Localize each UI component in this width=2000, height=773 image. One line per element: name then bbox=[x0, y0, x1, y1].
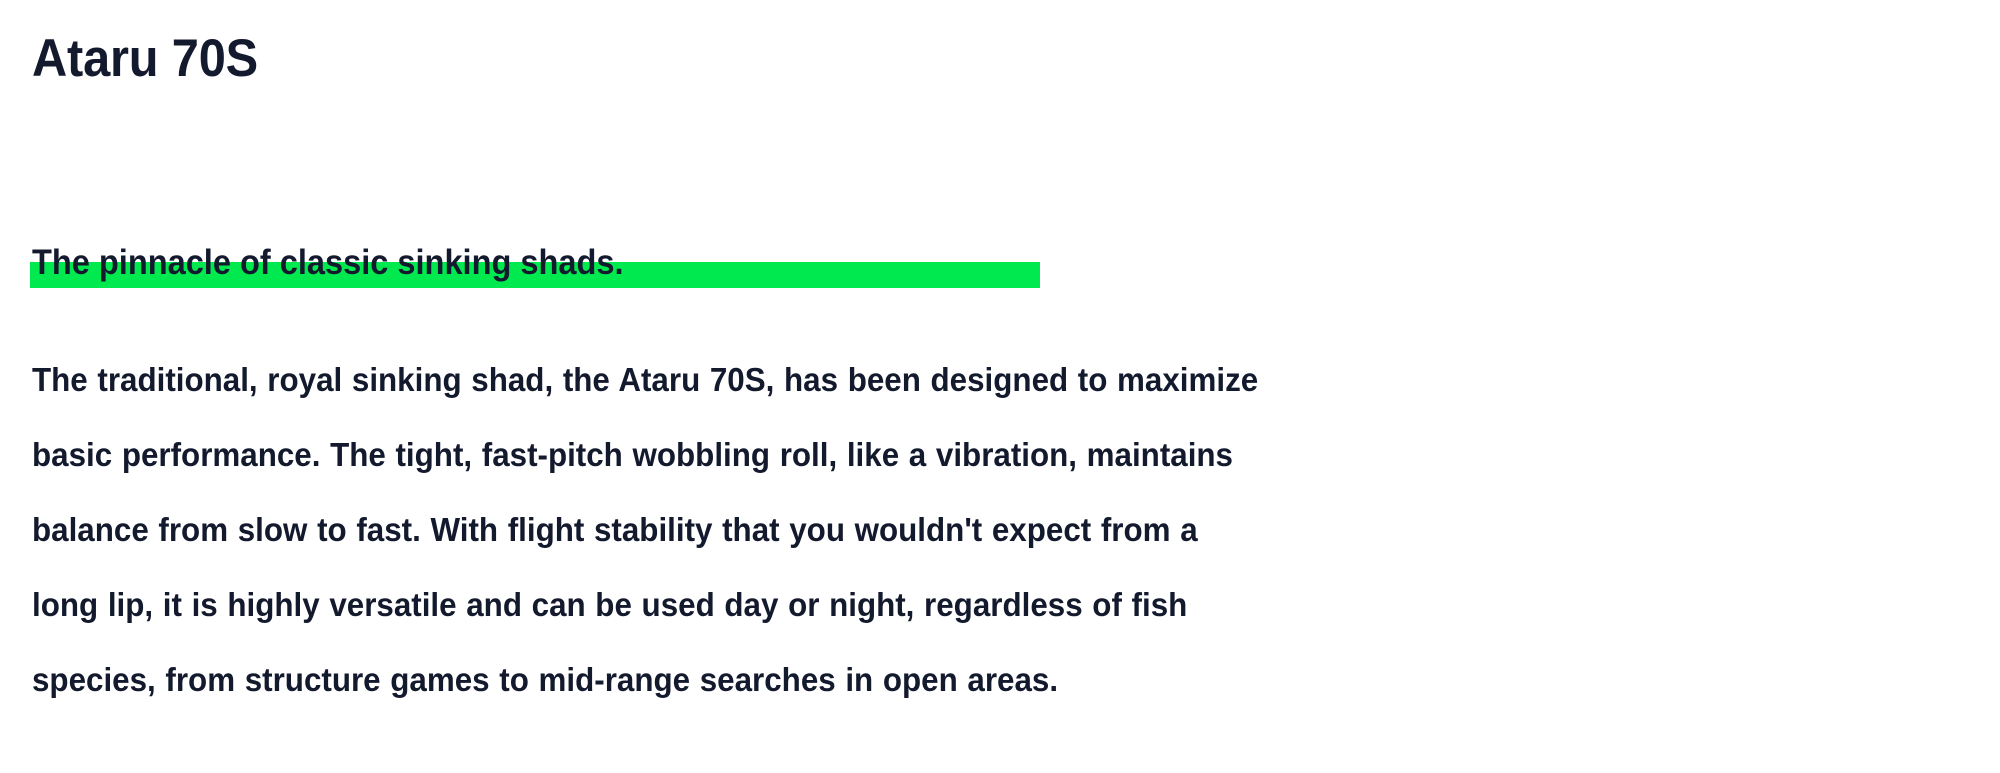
page-title: Ataru 70S bbox=[32, 26, 258, 92]
description-line: long lip, it is highly versatile and can… bbox=[32, 567, 1896, 642]
description-line: The traditional, royal sinking shad, the… bbox=[32, 342, 1896, 417]
tagline-block: The pinnacle of classic sinking shads. bbox=[32, 240, 668, 292]
product-description-page: Ataru 70S The pinnacle of classic sinkin… bbox=[0, 0, 2000, 773]
tagline-heading: The pinnacle of classic sinking shads. bbox=[32, 240, 624, 286]
description-line: balance from slow to fast. With flight s… bbox=[32, 492, 1896, 567]
description-line: species, from structure games to mid-ran… bbox=[32, 642, 1896, 717]
description-line: basic performance. The tight, fast-pitch… bbox=[32, 417, 1896, 492]
product-description: The traditional, royal sinking shad, the… bbox=[32, 342, 1994, 717]
